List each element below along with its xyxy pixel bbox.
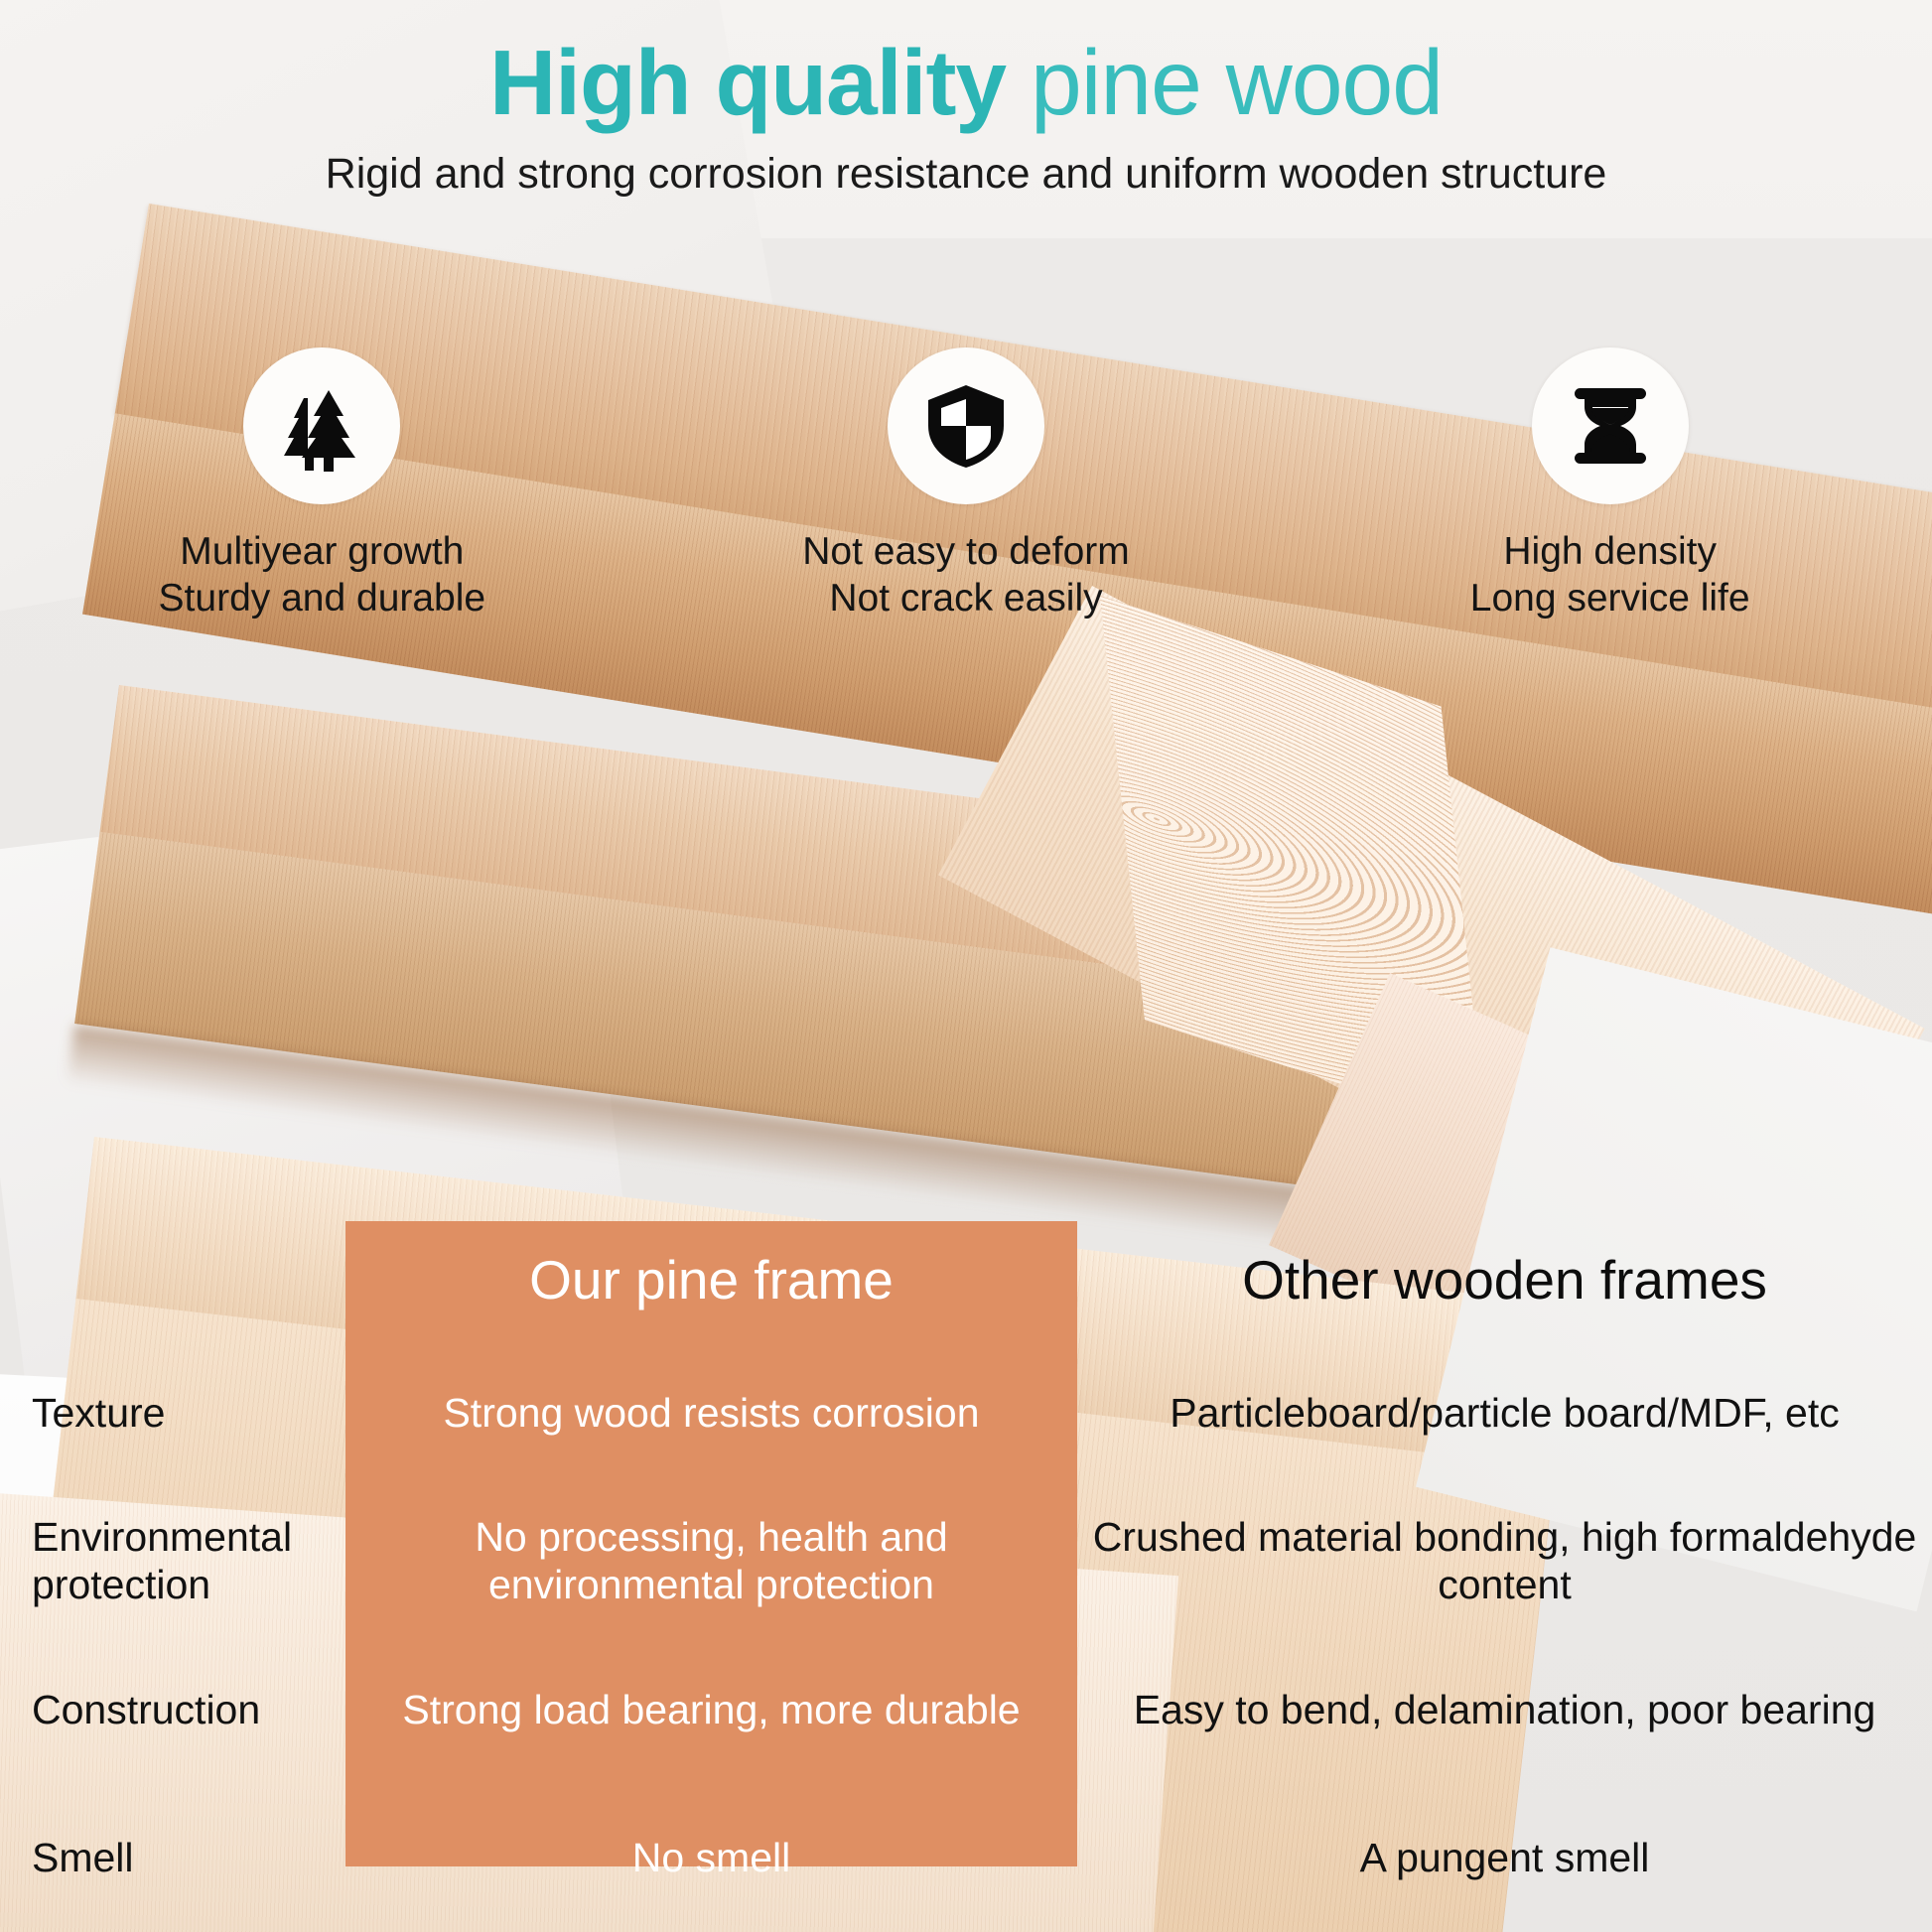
comparison-row-others: Particleboard/particle board/MDF, etc	[1077, 1389, 1932, 1437]
feature-badge	[1532, 347, 1689, 504]
feature-badge	[888, 347, 1044, 504]
comparison-row-ours: No processing, health and environmental …	[345, 1513, 1077, 1609]
feature-badge	[243, 347, 400, 504]
product-infographic: High quality pine wood Rigid and strong …	[0, 0, 1932, 1932]
feature-label: Not easy to deform Not crack easily	[802, 529, 1129, 622]
feature-item-high-density: High density Long service life	[1288, 347, 1932, 622]
feature-item-multiyear-growth: Multiyear growth Sturdy and durable	[0, 347, 644, 622]
comparison-row-label: Construction	[0, 1686, 345, 1733]
comparison-row-others: Easy to bend, delamination, poor bearing	[1077, 1686, 1932, 1733]
header: High quality pine wood Rigid and strong …	[0, 34, 1932, 199]
feature-label-line2: Sturdy and durable	[159, 576, 486, 622]
title-bold-part: High quality	[489, 31, 1006, 134]
hourglass-icon	[1565, 380, 1656, 472]
comparison-row-ours: No smell	[345, 1834, 1077, 1881]
pine-tree-icon	[274, 378, 369, 474]
comparison-row-label: Texture	[0, 1389, 345, 1437]
comparison-row-others: A pungent smell	[1077, 1834, 1932, 1881]
feature-label-line1: High density	[1470, 529, 1750, 576]
comparison-row-ours: Strong load bearing, more durable	[345, 1686, 1077, 1733]
comparison-row-label: Smell	[0, 1834, 345, 1881]
comparison-row-ours: Strong wood resists corrosion	[345, 1389, 1077, 1437]
title-light-part: pine wood	[1031, 31, 1443, 134]
page-subtitle: Rigid and strong corrosion resistance an…	[0, 150, 1932, 199]
feature-label-line2: Long service life	[1470, 576, 1750, 622]
feature-label: Multiyear growth Sturdy and durable	[159, 529, 486, 622]
shield-icon	[920, 380, 1012, 472]
feature-item-not-easy-to-deform: Not easy to deform Not crack easily	[644, 347, 1289, 622]
comparison-header-others: Other wooden frames	[1077, 1250, 1932, 1311]
comparison-header-ours: Our pine frame	[345, 1250, 1077, 1311]
feature-label-line1: Multiyear growth	[159, 529, 486, 576]
feature-list: Multiyear growth Sturdy and durable Not …	[0, 347, 1932, 622]
feature-label: High density Long service life	[1470, 529, 1750, 622]
comparison-row-label: Environmental protection	[0, 1513, 345, 1609]
comparison-row-others: Crushed material bonding, high formaldeh…	[1077, 1513, 1932, 1609]
page-title: High quality pine wood	[0, 34, 1932, 132]
feature-label-line2: Not crack easily	[802, 576, 1129, 622]
comparison-grid: Our pine frame Other wooden frames Textu…	[0, 1221, 1932, 1932]
feature-label-line1: Not easy to deform	[802, 529, 1129, 576]
comparison-table: Our pine frame Other wooden frames Textu…	[0, 1221, 1932, 1932]
